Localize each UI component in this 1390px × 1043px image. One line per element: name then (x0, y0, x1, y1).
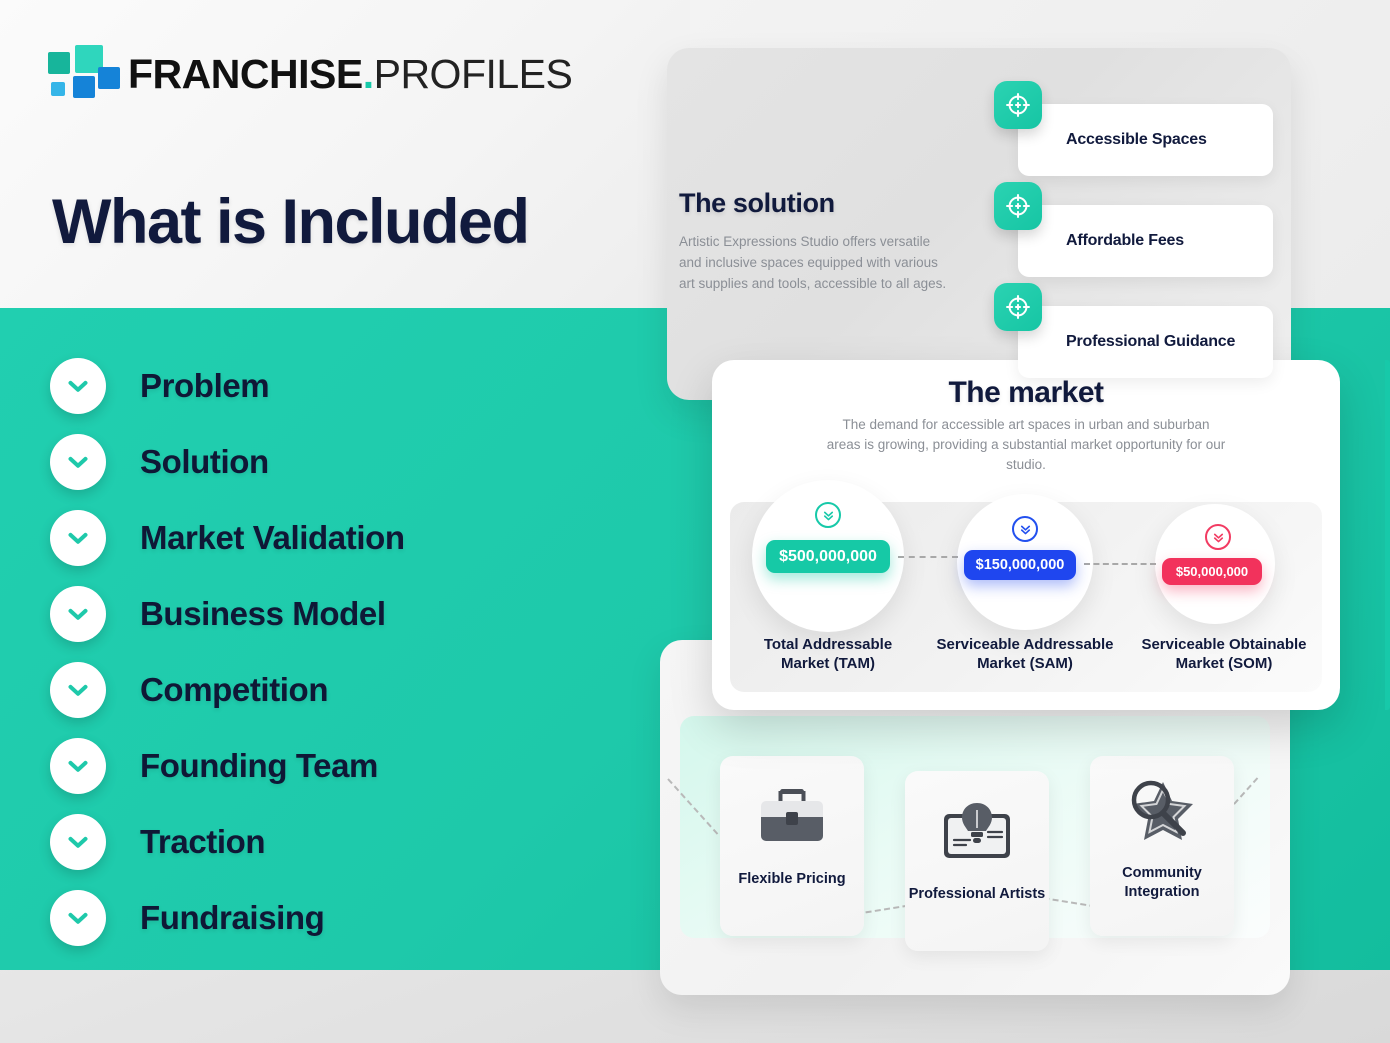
target-crosshair-icon (994, 283, 1042, 331)
pillar-card[interactable]: Professional Artists (905, 771, 1049, 951)
list-item-label: Fundraising (140, 899, 324, 937)
briefcase-icon (753, 776, 831, 860)
pillar-card[interactable]: Flexible Pricing (720, 756, 864, 936)
solution-card: The solution Artistic Expressions Studio… (667, 48, 1291, 400)
target-crosshair-icon (994, 182, 1042, 230)
market-value-tam: $500,000,000 (766, 540, 890, 573)
brand-name-light: PROFILES (374, 51, 573, 97)
list-item[interactable]: Business Model (50, 576, 610, 652)
solution-feature-row[interactable]: Accessible Spaces (994, 81, 1273, 176)
solution-body-text: Artistic Expressions Studio offers versa… (679, 232, 947, 295)
list-item[interactable]: Problem (50, 348, 610, 424)
solution-heading: The solution (679, 188, 835, 219)
teal-right-edge-accent (1385, 360, 1390, 710)
double-chevron-down-icon (815, 502, 841, 528)
pillar-label: Professional Artists (909, 885, 1045, 904)
list-item[interactable]: Solution (50, 424, 610, 500)
solution-feature-row[interactable]: Affordable Fees (994, 182, 1273, 277)
market-connector-line (1084, 563, 1156, 565)
slide-canvas: FRANCHISE.PROFILES What is Included Prob… (0, 0, 1390, 1043)
market-label-sam: Serviceable Addressable Market (SAM) (935, 636, 1115, 674)
brand-logo[interactable]: FRANCHISE.PROFILES (48, 45, 572, 103)
list-item[interactable]: Founding Team (50, 728, 610, 804)
market-label-som: Serviceable Obtainable Market (SOM) (1134, 636, 1314, 674)
solution-feature-pill: Affordable Fees (1018, 205, 1273, 277)
solution-feature-label: Affordable Fees (1066, 232, 1184, 250)
pillar-label: Community Integration (1090, 864, 1234, 902)
list-item-label: Business Model (140, 595, 386, 633)
list-item[interactable]: Market Validation (50, 500, 610, 576)
chevron-down-icon (50, 890, 106, 946)
page-title: What is Included (52, 188, 529, 257)
list-item[interactable]: Traction (50, 804, 610, 880)
squares-mosaic-icon (48, 45, 110, 103)
chevron-down-icon (50, 662, 106, 718)
solution-feature-label: Accessible Spaces (1066, 131, 1207, 149)
brand-name-bold: FRANCHISE (128, 51, 363, 97)
market-subtitle: The demand for accessible art spaces in … (826, 415, 1226, 475)
market-label-tam: Total Addressable Market (TAM) (738, 636, 918, 674)
solution-feature-label: Professional Guidance (1066, 333, 1235, 351)
chevron-down-icon (50, 814, 106, 870)
pillar-label: Flexible Pricing (738, 870, 845, 889)
chevron-down-icon (50, 586, 106, 642)
list-item-label: Founding Team (140, 747, 378, 785)
list-item[interactable]: Fundraising (50, 880, 610, 956)
market-value-sam: $150,000,000 (964, 550, 1076, 580)
market-card: The market The demand for accessible art… (712, 360, 1340, 710)
brand-wordmark: FRANCHISE.PROFILES (128, 54, 572, 95)
market-value-som: $50,000,000 (1162, 558, 1262, 585)
star-magnifier-icon (1119, 770, 1205, 854)
list-item-label: Solution (140, 443, 269, 481)
chevron-down-icon (50, 358, 106, 414)
solution-feature-pill: Professional Guidance (1018, 306, 1273, 378)
list-item-label: Problem (140, 367, 269, 405)
market-connector-line (898, 556, 958, 558)
list-item-label: Competition (140, 671, 328, 709)
included-checklist: Problem Solution Market Validation Busin… (50, 348, 610, 956)
chevron-down-icon (50, 434, 106, 490)
target-crosshair-icon (994, 81, 1042, 129)
market-title: The market (712, 376, 1340, 410)
solution-feature-pill: Accessible Spaces (1018, 104, 1273, 176)
pillar-card[interactable]: Community Integration (1090, 756, 1234, 936)
double-chevron-down-icon (1012, 516, 1038, 542)
list-item[interactable]: Competition (50, 652, 610, 728)
chevron-down-icon (50, 510, 106, 566)
chevron-down-icon (50, 738, 106, 794)
double-chevron-down-icon (1205, 524, 1231, 550)
lightbulb-board-icon (936, 791, 1018, 875)
solution-feature-row[interactable]: Professional Guidance (994, 283, 1273, 378)
list-item-label: Traction (140, 823, 265, 861)
list-item-label: Market Validation (140, 519, 405, 557)
brand-name-dot: . (363, 51, 374, 97)
